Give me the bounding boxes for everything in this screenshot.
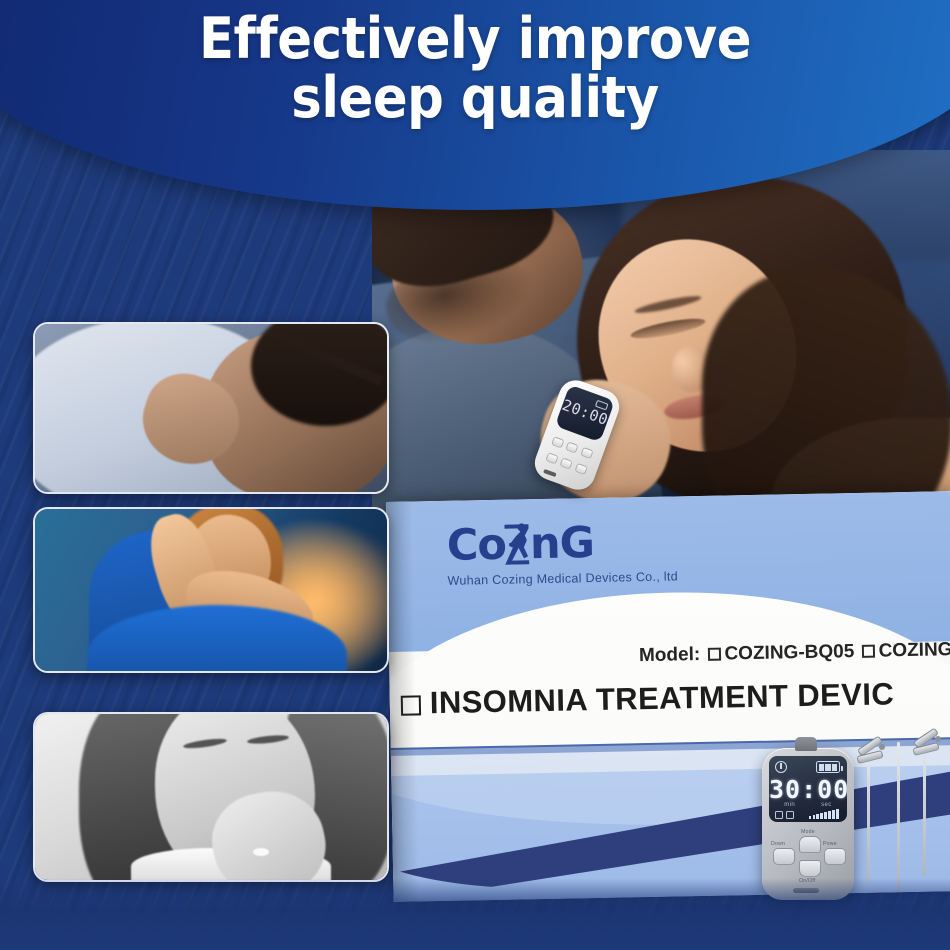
- thumbnail-awake-in-bed: [33, 507, 389, 673]
- thumbnail-image: [35, 509, 387, 671]
- keypad-key: [560, 458, 573, 470]
- battery-icon: [816, 761, 840, 773]
- down-button[interactable]: [773, 848, 795, 865]
- mode-button[interactable]: [799, 836, 821, 853]
- model-option-1: COZING-BQ05: [724, 641, 854, 664]
- clip-pivot: [935, 736, 941, 742]
- headline-line-1: Effectively improve: [199, 6, 751, 72]
- thumbnail-yawning: [33, 712, 389, 882]
- power-button[interactable]: [824, 848, 846, 865]
- brand-block: Co nG Wuhan Cozing Medical Devices Co., …: [446, 518, 678, 587]
- checkbox-icon: [707, 648, 720, 661]
- product-title: INSOMNIA TREATMENT DEVIC: [430, 676, 895, 720]
- speaker-slot: [543, 469, 557, 477]
- keypad-key: [566, 442, 579, 454]
- checkbox-icon: [861, 645, 874, 658]
- device-connector: [795, 737, 817, 751]
- handheld-device-timer: 20:00: [560, 396, 611, 429]
- intensity-bars-icon: [809, 808, 839, 819]
- model-option-2: COZING-IN0: [878, 638, 950, 661]
- electrode-wire: [923, 756, 926, 876]
- mode-indicator-icons: [775, 811, 794, 819]
- keypad-key: [574, 463, 587, 475]
- unit-min: min: [784, 802, 795, 808]
- cozing-logo: Co nG: [446, 518, 677, 568]
- headline-text: Effectively improve sleep quality: [0, 10, 950, 127]
- handheld-device-screen: 20:00: [555, 385, 615, 443]
- ring: [253, 848, 269, 856]
- keypad-key: [580, 447, 593, 459]
- checkbox-icon: [401, 695, 421, 715]
- thumbnail-image: [35, 714, 387, 880]
- logo-text-before: Co: [446, 523, 506, 567]
- ear-clip-electrode: [862, 736, 896, 886]
- device-timer-value: 30:00: [769, 775, 847, 804]
- power-button-label: Powe: [823, 841, 837, 847]
- keypad-key: [551, 436, 564, 448]
- sleeping-couple-photo: [372, 150, 950, 550]
- thumbnail-image: [35, 324, 387, 492]
- running-person-icon: [505, 521, 532, 567]
- headline-line-2: sleep quality: [0, 69, 950, 128]
- power-icon: [775, 761, 787, 773]
- device-screen: 30:00 min sec: [769, 756, 847, 822]
- electrode-wire: [897, 742, 900, 892]
- thumbnail-hugging-pillow: [33, 322, 389, 494]
- bottom-gradient-strip: [0, 878, 950, 950]
- down-button-label: Down: [771, 841, 785, 847]
- electrode-wire: [867, 764, 870, 884]
- clip-pivot: [879, 744, 885, 750]
- onoff-button[interactable]: [799, 860, 821, 877]
- ear-clip-electrode: [918, 728, 950, 878]
- logo-text-after: nG: [530, 522, 595, 566]
- mode-button-label: Mode: [801, 829, 815, 835]
- keypad-key: [545, 452, 558, 464]
- model-label: Model:: [639, 644, 701, 666]
- product-marketing-banner: 20:00 Co: [0, 0, 950, 950]
